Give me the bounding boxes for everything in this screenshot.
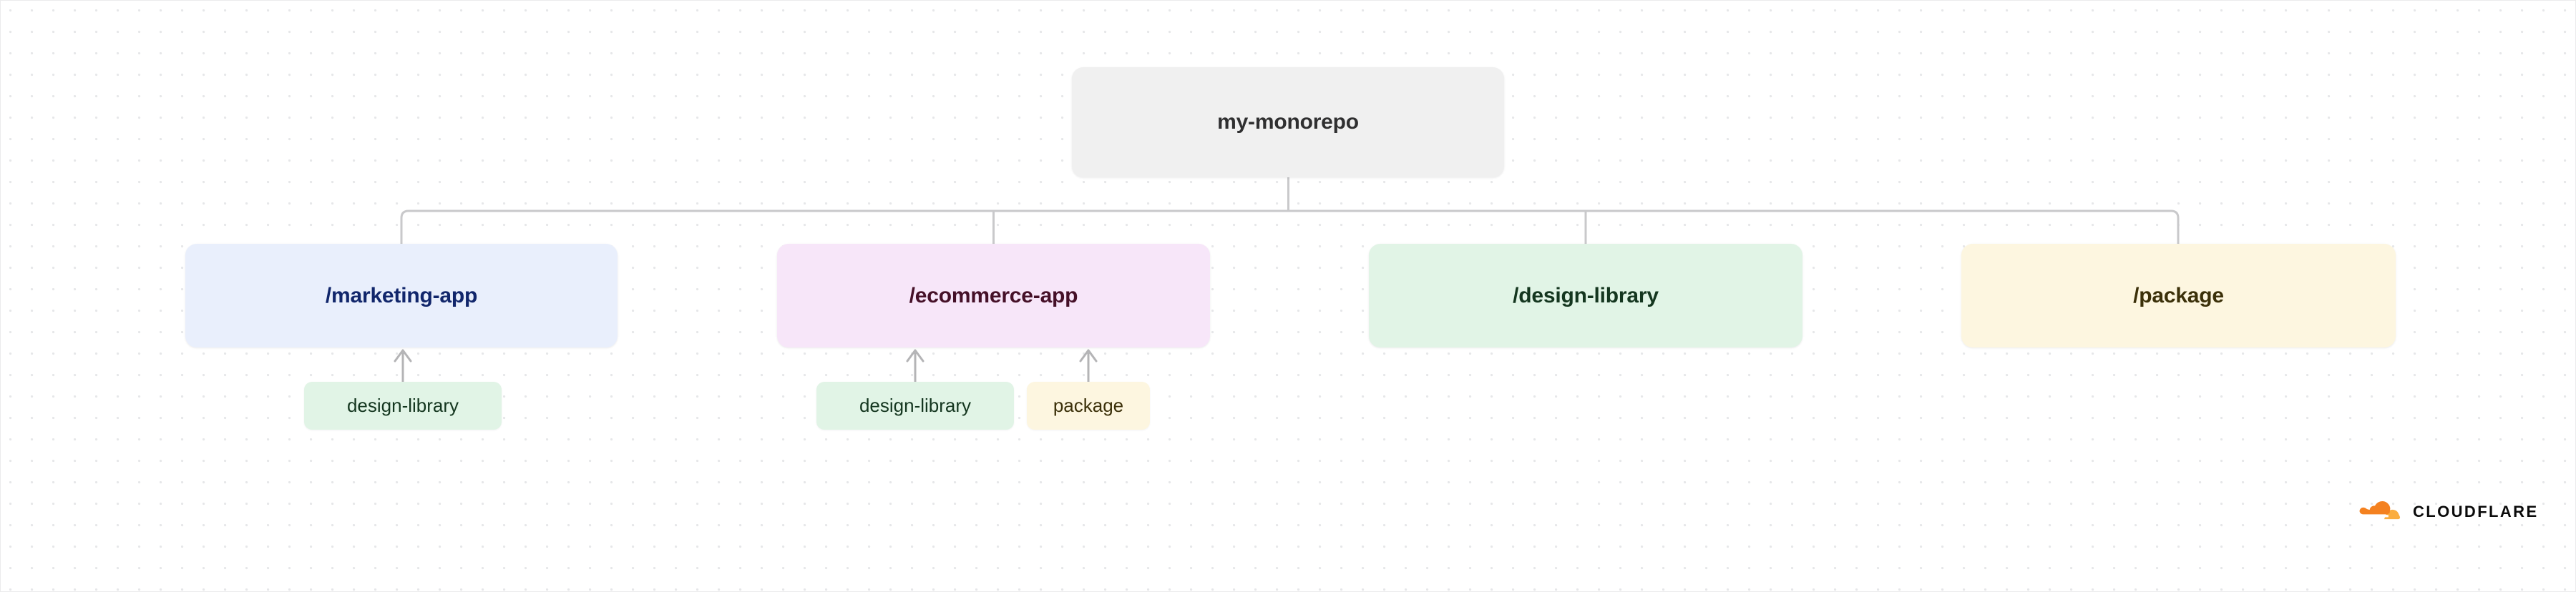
dependency-tag-label: package (1053, 395, 1123, 417)
arrow-ecommerce-package (1080, 350, 1096, 382)
arrow-marketing-design-library (395, 350, 411, 382)
arrow-ecommerce-design-library (907, 350, 923, 382)
dependency-tag-label: design-library (859, 395, 971, 417)
node-my-monorepo[interactable]: my-monorepo (1072, 67, 1504, 177)
node-design-library[interactable]: /design-library (1369, 244, 1802, 347)
node-label-design-library: /design-library (1513, 284, 1659, 308)
node-label-my-monorepo: my-monorepo (1217, 110, 1359, 134)
cloudflare-wordmark: CLOUDFLARE (2413, 504, 2539, 520)
dependency-tag-marketing-design-library[interactable]: design-library (304, 382, 502, 430)
node-marketing-app[interactable]: /marketing-app (185, 244, 618, 347)
diagram-canvas: my-monorepo /marketing-app /ecommerce-ap… (0, 0, 2576, 592)
cloudflare-cloud-icon (2359, 501, 2404, 523)
dependency-tag-ecommerce-package[interactable]: package (1027, 382, 1150, 430)
edge-trunk (401, 211, 2178, 244)
node-label-package: /package (2133, 284, 2224, 308)
node-label-marketing-app: /marketing-app (326, 284, 477, 308)
dependency-tag-label: design-library (347, 395, 459, 417)
node-ecommerce-app[interactable]: /ecommerce-app (777, 244, 1210, 347)
node-label-ecommerce-app: /ecommerce-app (909, 284, 1078, 308)
node-package[interactable]: /package (1961, 244, 2396, 347)
cloudflare-logo: CLOUDFLARE (2359, 501, 2539, 523)
dependency-tag-ecommerce-design-library[interactable]: design-library (816, 382, 1014, 430)
